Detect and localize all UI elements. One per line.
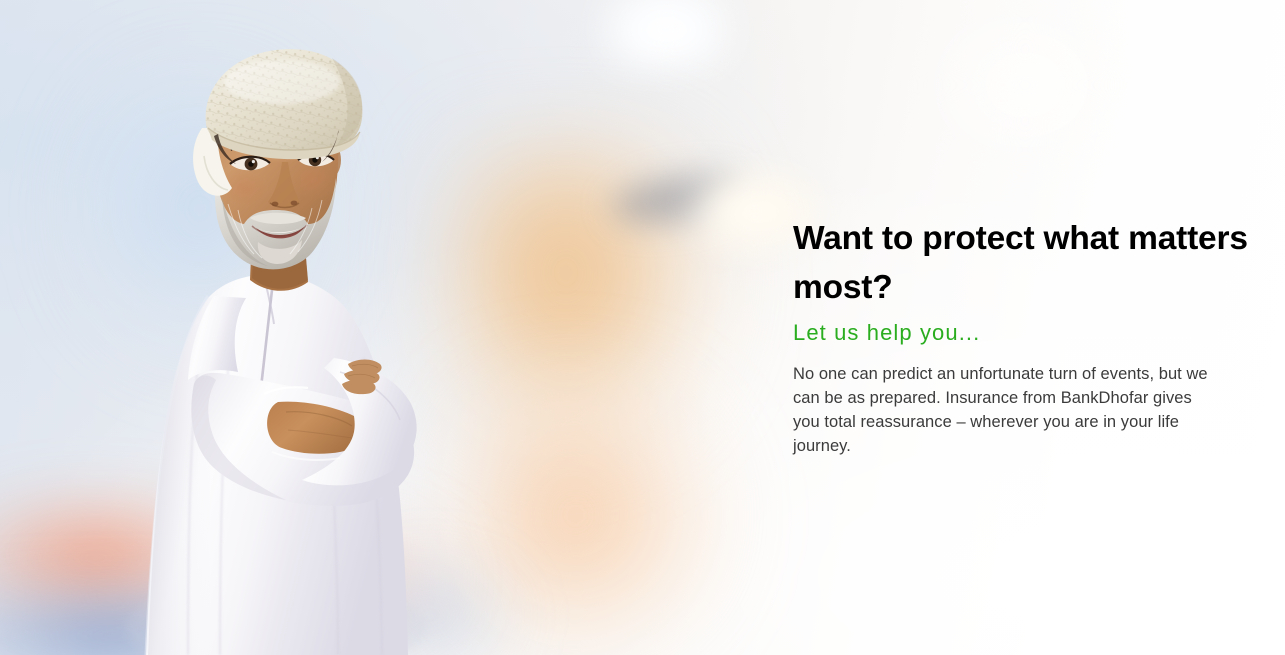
hero-copy-block: Want to protect what matters most? Let u…: [793, 214, 1285, 458]
man-portrait-image: [96, 28, 456, 655]
ceiling-light-icon-right: [930, 10, 1120, 160]
insurance-hero-banner: Want to protect what matters most? Let u…: [0, 0, 1285, 655]
page-title: Want to protect what matters most?: [793, 214, 1285, 312]
ceiling-light-icon-top: [596, 0, 736, 70]
hero-subheadline: Let us help you...: [793, 320, 1285, 346]
hero-body-text: No one can predict an unfortunate turn o…: [793, 362, 1213, 458]
